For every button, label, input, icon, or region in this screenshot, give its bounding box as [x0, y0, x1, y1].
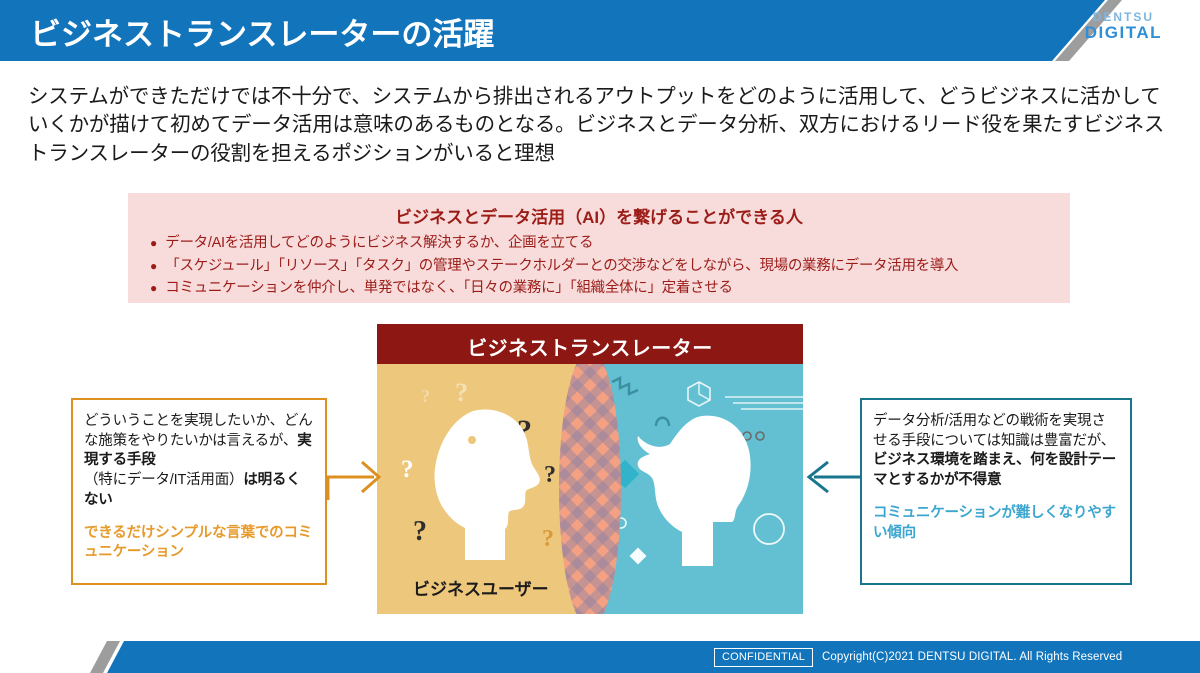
business-user-head-icon — [429, 408, 549, 563]
callout-data-scientist: データ分析/活用などの戦術を実現させる手段については知識は豊富だが、ビジネス環境… — [860, 398, 1132, 585]
callout-right-text-plain-1: データ分析/活用などの戦術を実現させる手段については知識は豊富だが、 — [873, 413, 1115, 449]
card-illustration: ? ? ? ? ? ? ? ? ビジネスユーザー — [377, 364, 803, 614]
summary-panel: ビジネスとデータ活用（AI）を繋げることができる人 ● データ/AIを活用してど… — [128, 193, 1070, 303]
data-scientist-panel: データサイエンティスト — [590, 364, 803, 614]
left-callout-connector — [326, 440, 388, 502]
data-scientist-head-icon — [634, 414, 759, 569]
page-title: ビジネストランスレーターの活躍 — [30, 9, 494, 54]
callout-right-text-bold-1: ビジネス環境を踏まえ、何を設計テーマとするかが不得意 — [873, 452, 1116, 488]
callout-left-text-plain-1: どういうことを実現したいか、どんな施策をやりたいかは言えるが、 — [84, 413, 313, 449]
card-title: ビジネストランスレーター — [377, 332, 803, 361]
zigzag-pattern-b — [559, 364, 621, 614]
bullet-icon: ● — [150, 233, 157, 253]
business-user-label: ビジネスユーザー — [413, 575, 549, 600]
logo-text-dentsu: DENTSU — [1085, 11, 1162, 23]
copyright-text: Copyright(C)2021 DENTSU DIGITAL. All Rig… — [822, 651, 1122, 663]
lead-paragraph: システムができただけでは不十分で、システムから排出されるアウトプットをどのように… — [28, 83, 1178, 168]
callout-business-user: どういうことを実現したいか、どんな施策をやりたいかは言えるが、実現する手段（特に… — [71, 398, 327, 585]
callout-right-paragraph: データ分析/活用などの戦術を実現させる手段については知識は豊富だが、ビジネス環境… — [873, 412, 1119, 491]
list-item: ● データ/AIを活用してどのようにビジネス解決するか、企画を立てる — [150, 233, 1060, 253]
list-item: ● コミュニケーションを仲介し、単発ではなく、「日々の業務に」「組織全体に」定着… — [150, 278, 1060, 298]
callout-left-text-plain-2: （特にデータ/IT活用面） — [84, 472, 243, 488]
page-header: ビジネストランスレーターの活躍 DENTSU DIGITAL — [0, 0, 1200, 61]
question-mark-icon: ? — [421, 386, 430, 407]
list-item-label: コミュニケーションを仲介し、単発ではなく、「日々の業務に」「組織全体に」定着させ… — [165, 278, 732, 298]
summary-panel-title: ビジネスとデータ活用（AI）を繋げることができる人 — [128, 203, 1070, 228]
bullet-icon: ● — [150, 256, 157, 276]
callout-left-accent: できるだけシンプルな言葉でのコミュニケーション — [84, 524, 314, 563]
logo-text-digital: DIGITAL — [1085, 24, 1162, 41]
list-item: ● 「スケジュール」「リソース」「タスク」の管理やステークホルダーとの交渉などを… — [150, 256, 1060, 276]
confidential-badge: CONFIDENTIAL — [714, 648, 813, 667]
list-item-label: 「スケジュール」「リソース」「タスク」の管理やステークホルダーとの交渉などをしな… — [165, 256, 958, 276]
divider-oval — [559, 364, 621, 614]
question-mark-icon: ? — [413, 516, 427, 548]
hexagon-decoration-icon — [685, 380, 713, 408]
question-mark-icon: ? — [455, 378, 468, 408]
bullet-icon: ● — [150, 278, 157, 298]
dentsu-digital-logo: DENTSU DIGITAL — [1085, 11, 1162, 41]
callout-right-accent: コミュニケーションが難しくなりやすい傾向 — [873, 504, 1119, 543]
page-footer: CONFIDENTIAL Copyright(C)2021 DENTSU DIG… — [0, 641, 1200, 673]
right-callout-connector — [800, 440, 864, 502]
translator-diagram-card: ビジネストランスレーター ? ? ? ? ? ? ? ? ビジネスユーザー — [377, 324, 803, 614]
card-header-band: ビジネストランスレーター — [377, 324, 803, 364]
question-mark-icon: ? — [401, 456, 414, 484]
summary-panel-list: ● データ/AIを活用してどのようにビジネス解決するか、企画を立てる ● 「スケ… — [150, 233, 1060, 301]
callout-left-paragraph: どういうことを実現したいか、どんな施策をやりたいかは言えるが、実現する手段（特に… — [84, 412, 314, 511]
lines-decoration-icon — [725, 394, 803, 410]
list-item-label: データ/AIを活用してどのようにビジネス解決するか、企画を立てる — [165, 233, 593, 253]
